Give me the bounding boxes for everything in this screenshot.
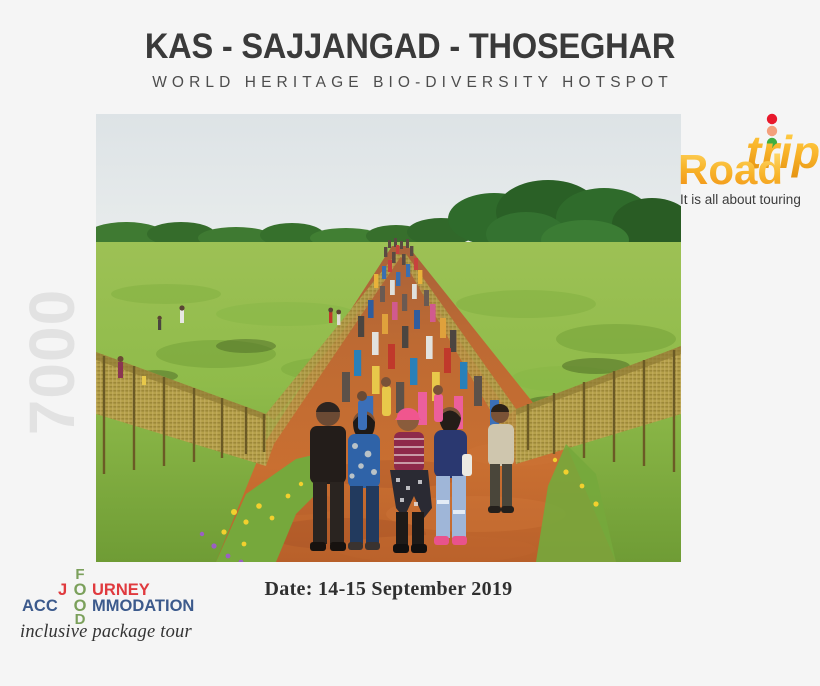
page-title: KAS - SAJJANGAD - THOSEGHAR [29, 26, 792, 68]
poster-header: KAS - SAJJANGAD - THOSEGHAR WORLD HERITA… [0, 26, 820, 92]
package-slogan: inclusive package tour [20, 622, 192, 643]
accommodation-suffix: MMODATION [92, 597, 194, 615]
brand-road-text: Road [678, 146, 783, 193]
poster-canvas: KAS - SAJJANGAD - THOSEGHAR WORLD HERITA… [0, 0, 820, 686]
watermark-7000: 7000 [20, 272, 84, 452]
roadtrip-wordmark: trip Road [676, 112, 820, 194]
journey-text: J [58, 581, 67, 599]
brand-tagline: It is all about touring [680, 192, 801, 207]
roadtrip-logo[interactable]: trip Road It is all about touring [676, 112, 820, 216]
kas-plateau-illustration [96, 114, 681, 562]
crossword-wordmark: F J O URNEY ACC O MMODATION D [16, 566, 216, 624]
page-subtitle: WORLD HERITAGE BIO-DIVERSITY HOTSPOT [0, 74, 820, 92]
hero-photo [96, 114, 681, 562]
accommodation-prefix: ACC [22, 597, 58, 615]
package-logo[interactable]: F J O URNEY ACC O MMODATION D inclusive … [16, 566, 216, 656]
red-light-icon [767, 114, 777, 124]
